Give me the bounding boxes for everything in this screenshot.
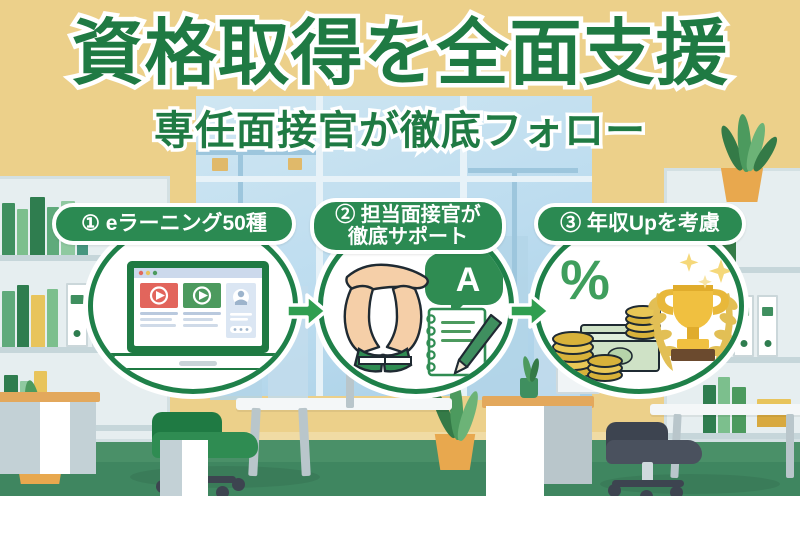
svg-text:%: % (560, 248, 610, 311)
footer-bar: World Corporation 建築施工管理の求人募集、転職情報なら セコカ… (0, 496, 800, 533)
feature-badge-2-line2: 徹底サポート (348, 226, 468, 248)
svg-text:A: A (456, 261, 481, 299)
feature-badge-1: ① eラーニング50種 (52, 203, 296, 245)
arrow-right-icon-1 (285, 292, 329, 330)
feature-badge-3-text: ③ 年収Upを考慮 (560, 212, 720, 236)
feature-cards: ① eラーニング50種 A (0, 0, 800, 533)
promo-banner: 資格取得を全面支援 専任面接官が徹底フォロー (0, 0, 800, 533)
feature-badge-3: ③ 年収Upを考慮 (534, 203, 746, 245)
feature-badge-1-text: ① eラーニング50種 (81, 212, 267, 236)
arrow-right-icon-2 (508, 292, 552, 330)
footer-divider (0, 496, 800, 498)
laptop-elearning-icon (93, 223, 298, 394)
salary-up-icon: % (539, 223, 744, 394)
feature-badge-2: ② 担当面接官が 徹底サポート (310, 198, 506, 254)
feature-badge-2-line1: ② 担当面接官が (335, 204, 481, 226)
